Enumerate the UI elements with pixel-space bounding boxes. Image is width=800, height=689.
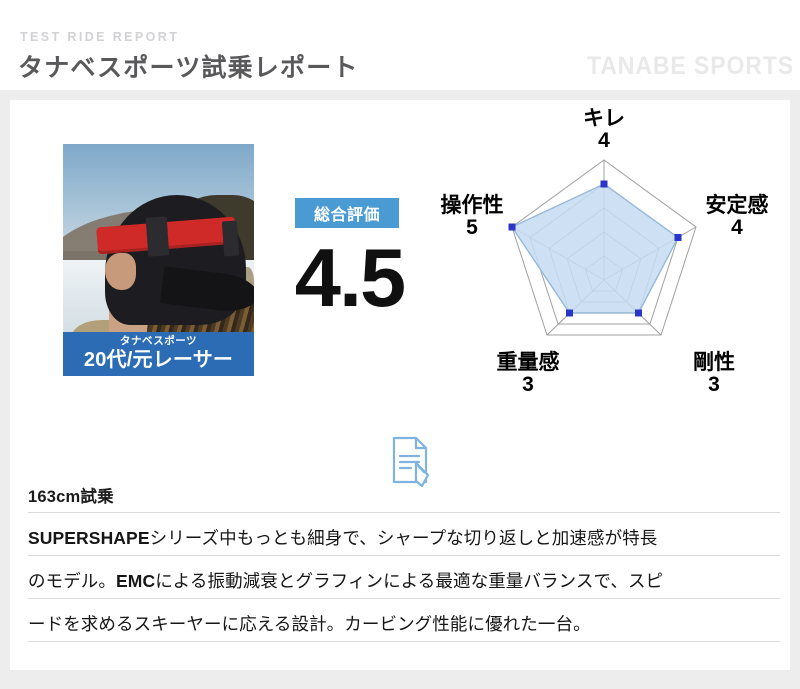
report-card: タナベスポーツ 20代/元レーサー 総合評価 4.5: [10, 100, 790, 670]
review-line-1-bold: SUPERSHAPE: [28, 528, 150, 548]
radar-value-kire: 4: [598, 129, 610, 152]
radar-value-sousasei: 5: [466, 216, 478, 239]
divider-2: [28, 555, 780, 556]
page-header: TEST RIDE REPORT タナベスポーツ試乗レポート TANABE SP…: [0, 0, 800, 90]
photo-caption-shop: タナベスポーツ: [63, 335, 254, 348]
review-line-2-bold: EMC: [116, 571, 155, 591]
radar-label-gousei: 剛性: [693, 350, 735, 374]
overall-score-badge: 総合評価: [295, 198, 399, 228]
review-line-3: ードを求めるスキーヤーに応える設計。カービング性能に優れた一台。: [28, 611, 788, 636]
overall-score-value: 4.5: [282, 234, 417, 322]
photo-ear: [105, 253, 136, 290]
radar-data-area: [512, 184, 678, 313]
radar-chart: キレ 4 安定感 4 剛性 3 重量感 3 操作性 5: [418, 108, 790, 408]
radar-value-juuryoukan: 3: [522, 373, 534, 396]
brand-watermark: TANABE SPORTS: [587, 52, 794, 81]
review-line-1: SUPERSHAPEシリーズ中もっとも細身で、シャープな切り返しと加速感が特長: [28, 525, 788, 550]
photo-caption-banner: タナベスポーツ 20代/元レーサー: [63, 332, 254, 376]
header-eyebrow: TEST RIDE REPORT: [20, 30, 179, 44]
radar-label-sousasei: 操作性: [441, 193, 504, 217]
page-title: タナベスポーツ試乗レポート: [18, 48, 359, 84]
radar-label-anteikan: 安定感: [706, 193, 769, 217]
radar-label-juuryoukan: 重量感: [497, 350, 560, 374]
radar-value-anteikan: 4: [731, 216, 743, 239]
reviewer-photo: タナベスポーツ 20代/元レーサー: [63, 144, 254, 376]
review-line-2-pre: のモデル。: [28, 571, 116, 591]
radar-value-gousei: 3: [708, 373, 720, 396]
divider-4: [28, 641, 780, 642]
test-height-label: 163cm試乗: [28, 483, 114, 507]
radar-label-kire: キレ: [583, 108, 625, 130]
document-pencil-icon: [380, 430, 440, 490]
review-line-2-rest: による振動減衰とグラフィンによる最適な重量バランスで、スピ: [155, 571, 663, 591]
photo-strap-buckle: [146, 216, 170, 257]
divider-3: [28, 598, 780, 599]
review-line-1-rest: シリーズ中もっとも細身で、シャープな切り返しと加速感が特長: [150, 528, 658, 548]
review-line-2: のモデル。EMCによる振動減衰とグラフィンによる最適な重量バランスで、スピ: [28, 568, 788, 593]
divider-1: [28, 512, 780, 513]
photo-caption-profile: 20代/元レーサー: [63, 348, 254, 373]
